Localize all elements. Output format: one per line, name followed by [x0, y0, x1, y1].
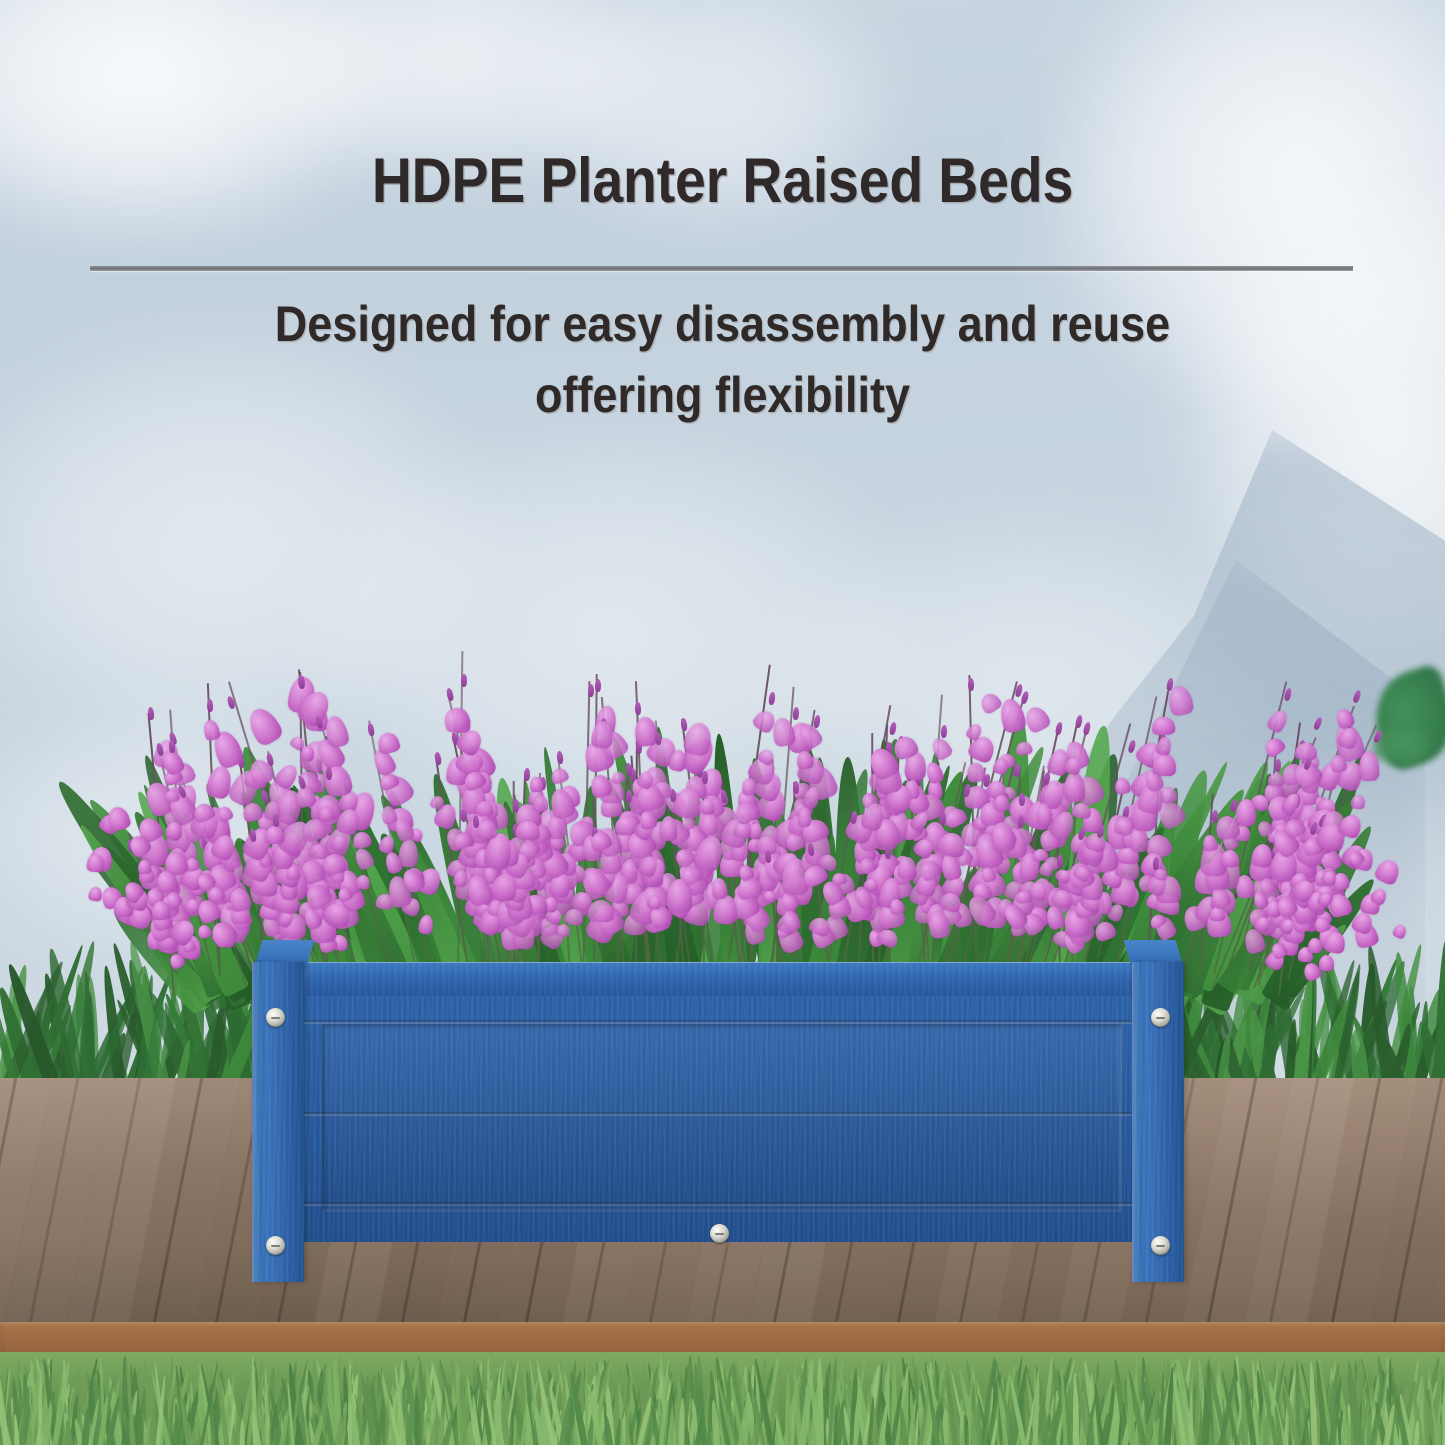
orchid-floret [1210, 907, 1225, 921]
flower-bud [461, 674, 467, 687]
orchid-floret [588, 900, 614, 922]
flower-bud [297, 675, 304, 689]
orchid-floret [1153, 754, 1177, 776]
flower-bud [366, 723, 374, 737]
deck-plank-seam [1190, 1078, 1269, 1328]
flower-bud [888, 721, 896, 735]
deck-plank-seam [1376, 1078, 1445, 1328]
orchid-floret [549, 767, 569, 786]
orchid-floret [1319, 955, 1334, 971]
flower-bud [1057, 855, 1063, 868]
product-marketing-image: HDPE Planter Raised Beds Designed for ea… [0, 0, 1445, 1445]
deck-board [1290, 1078, 1425, 1328]
flower-bud [445, 688, 454, 702]
deck-board [112, 1078, 247, 1328]
stainless-screw [1151, 1008, 1170, 1027]
flower-bud [513, 799, 519, 812]
orchid-floret [1262, 735, 1286, 759]
orchid-floret [475, 801, 493, 817]
flower-bud [1082, 722, 1091, 736]
orchid-floret [1064, 771, 1086, 801]
deck-board [1166, 1078, 1301, 1328]
flower-bud [813, 715, 821, 729]
deck-board [0, 1078, 124, 1328]
flower-bud [940, 811, 947, 824]
deck-board [0, 1078, 62, 1328]
deck-plank-seam [1252, 1078, 1331, 1328]
flower-bud [557, 751, 564, 765]
stainless-screw [266, 1008, 285, 1027]
flower-bud [635, 702, 642, 715]
flower-bud [885, 846, 891, 859]
flower-bud [1055, 721, 1064, 735]
orchid-floret [1265, 707, 1290, 734]
stainless-screw [710, 1224, 729, 1243]
orchid-floret [202, 718, 222, 741]
orchid-floret [318, 806, 334, 821]
orchid-floret [244, 703, 285, 748]
orchid-floret [966, 762, 986, 783]
orchid-floret [977, 691, 1002, 716]
deck-plank-seam [74, 1078, 153, 1328]
flower-bud [588, 683, 594, 696]
stainless-screw [266, 1236, 285, 1255]
flower-bud [1019, 793, 1025, 806]
flower-bud [207, 699, 214, 712]
subtitle-line-1: Designed for easy disassembly and reuse [275, 296, 1170, 352]
subtitle-line-2: offering flexibility [72, 360, 1373, 431]
flower-bud [702, 771, 708, 784]
post-bevel [1132, 962, 1141, 1282]
flower-bud [681, 718, 689, 732]
deck-board [1352, 1078, 1445, 1328]
deck-plank-seam [0, 1078, 29, 1328]
flower-bud [793, 781, 799, 794]
foreground-lawn [0, 1352, 1445, 1445]
deck-board [1228, 1078, 1363, 1328]
orchid-floret [534, 794, 549, 812]
post-bevel [252, 962, 261, 1282]
orchid-floret [376, 731, 401, 755]
orchid-floret [1152, 716, 1176, 735]
orchid-floret [1114, 777, 1132, 796]
flower-bud [1074, 715, 1083, 729]
stainless-screw [1151, 1236, 1170, 1255]
flower-bud [147, 706, 154, 719]
orchid-floret [1268, 772, 1284, 786]
flower-bud [968, 678, 974, 691]
deck-plank-seam [136, 1078, 215, 1328]
recessed-panel [322, 1024, 1122, 1212]
flower-bud [1021, 690, 1030, 704]
deck-board [1414, 1078, 1445, 1328]
flower-bud [595, 679, 601, 692]
orchid-floret [797, 808, 811, 828]
planter-front-panel [302, 996, 1142, 1242]
flower-bud [768, 692, 776, 706]
flower-bud [168, 739, 175, 752]
deck-plank-seam [12, 1078, 91, 1328]
flower-bud [325, 767, 332, 780]
orchid-floret [477, 820, 497, 840]
orchid-floret [1308, 938, 1322, 953]
banner-header: HDPE Planter Raised Beds Designed for ea… [0, 150, 1445, 213]
title-divider [90, 266, 1353, 271]
hdpe-planter-box [252, 962, 1184, 1282]
flower-bud [524, 768, 530, 781]
deck-plank-seam [1314, 1078, 1393, 1328]
banner-subtitle: Designed for easy disassembly and reuse … [72, 289, 1373, 431]
flower-bud [1128, 739, 1137, 753]
deck-board [50, 1078, 185, 1328]
flower-bud [940, 724, 947, 737]
page-title: HDPE Planter Raised Beds [87, 150, 1359, 213]
orchid-floret [1220, 850, 1238, 867]
deck-plank-seam [1438, 1078, 1445, 1328]
orchid-floret [1021, 703, 1052, 735]
flower-bud [792, 707, 799, 720]
orchid-floret [994, 795, 1009, 811]
